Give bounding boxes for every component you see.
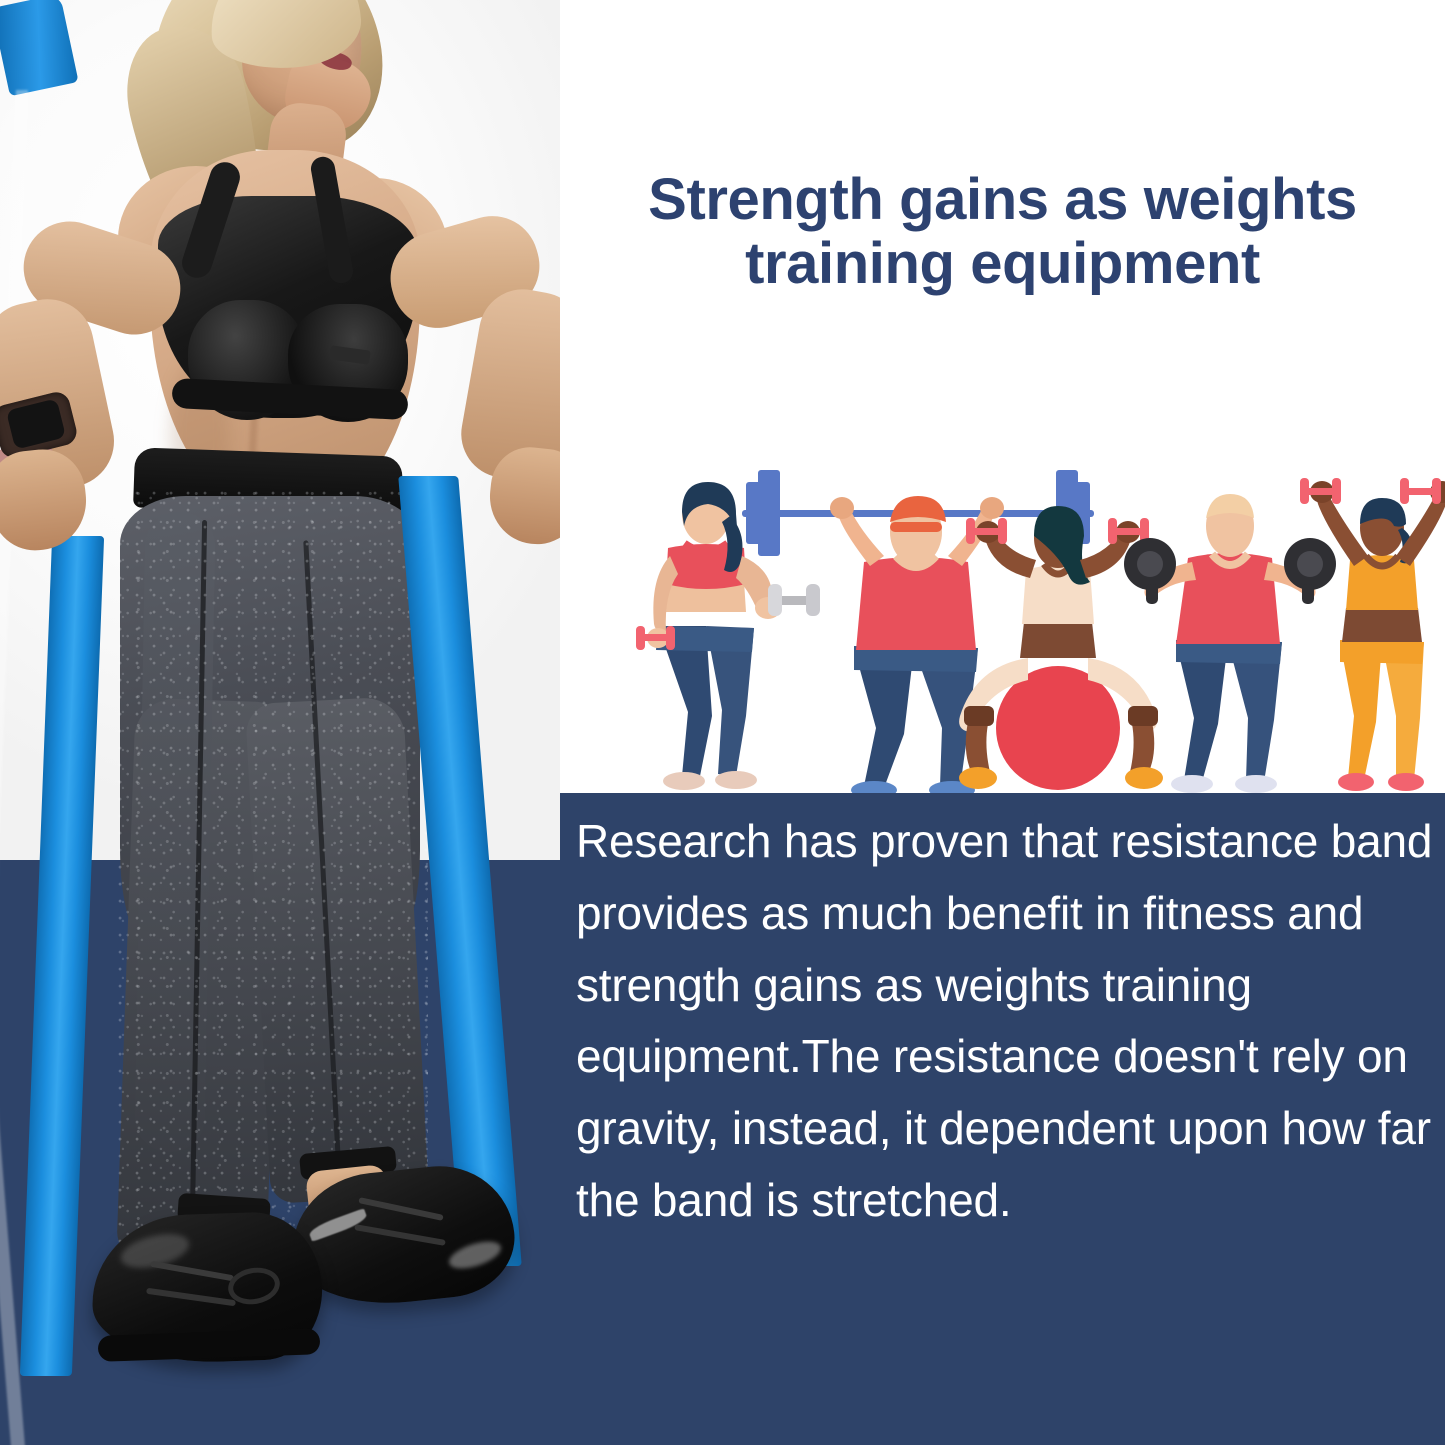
exercise-illustration — [596, 466, 1445, 793]
body-paragraph: Research has proven that resistance band… — [576, 806, 1441, 1237]
dumbbell-pink-overhead-right — [1400, 478, 1441, 504]
figure-woman-bicep-curl — [636, 482, 820, 790]
dumbbell-silver — [768, 584, 820, 616]
exercise-illustration-svg — [596, 466, 1445, 793]
promo-banner: Strength gains as weights training equip… — [0, 0, 1445, 1445]
dumbbell-black-left — [1124, 538, 1176, 604]
figure-man-shoulder-press — [1124, 494, 1336, 793]
dumbbell-black-right — [1284, 538, 1336, 604]
figure-woman-overhead-raise — [1300, 478, 1445, 791]
page-title: Strength gains as weights training equip… — [560, 168, 1445, 296]
product-photo — [0, 0, 560, 1445]
